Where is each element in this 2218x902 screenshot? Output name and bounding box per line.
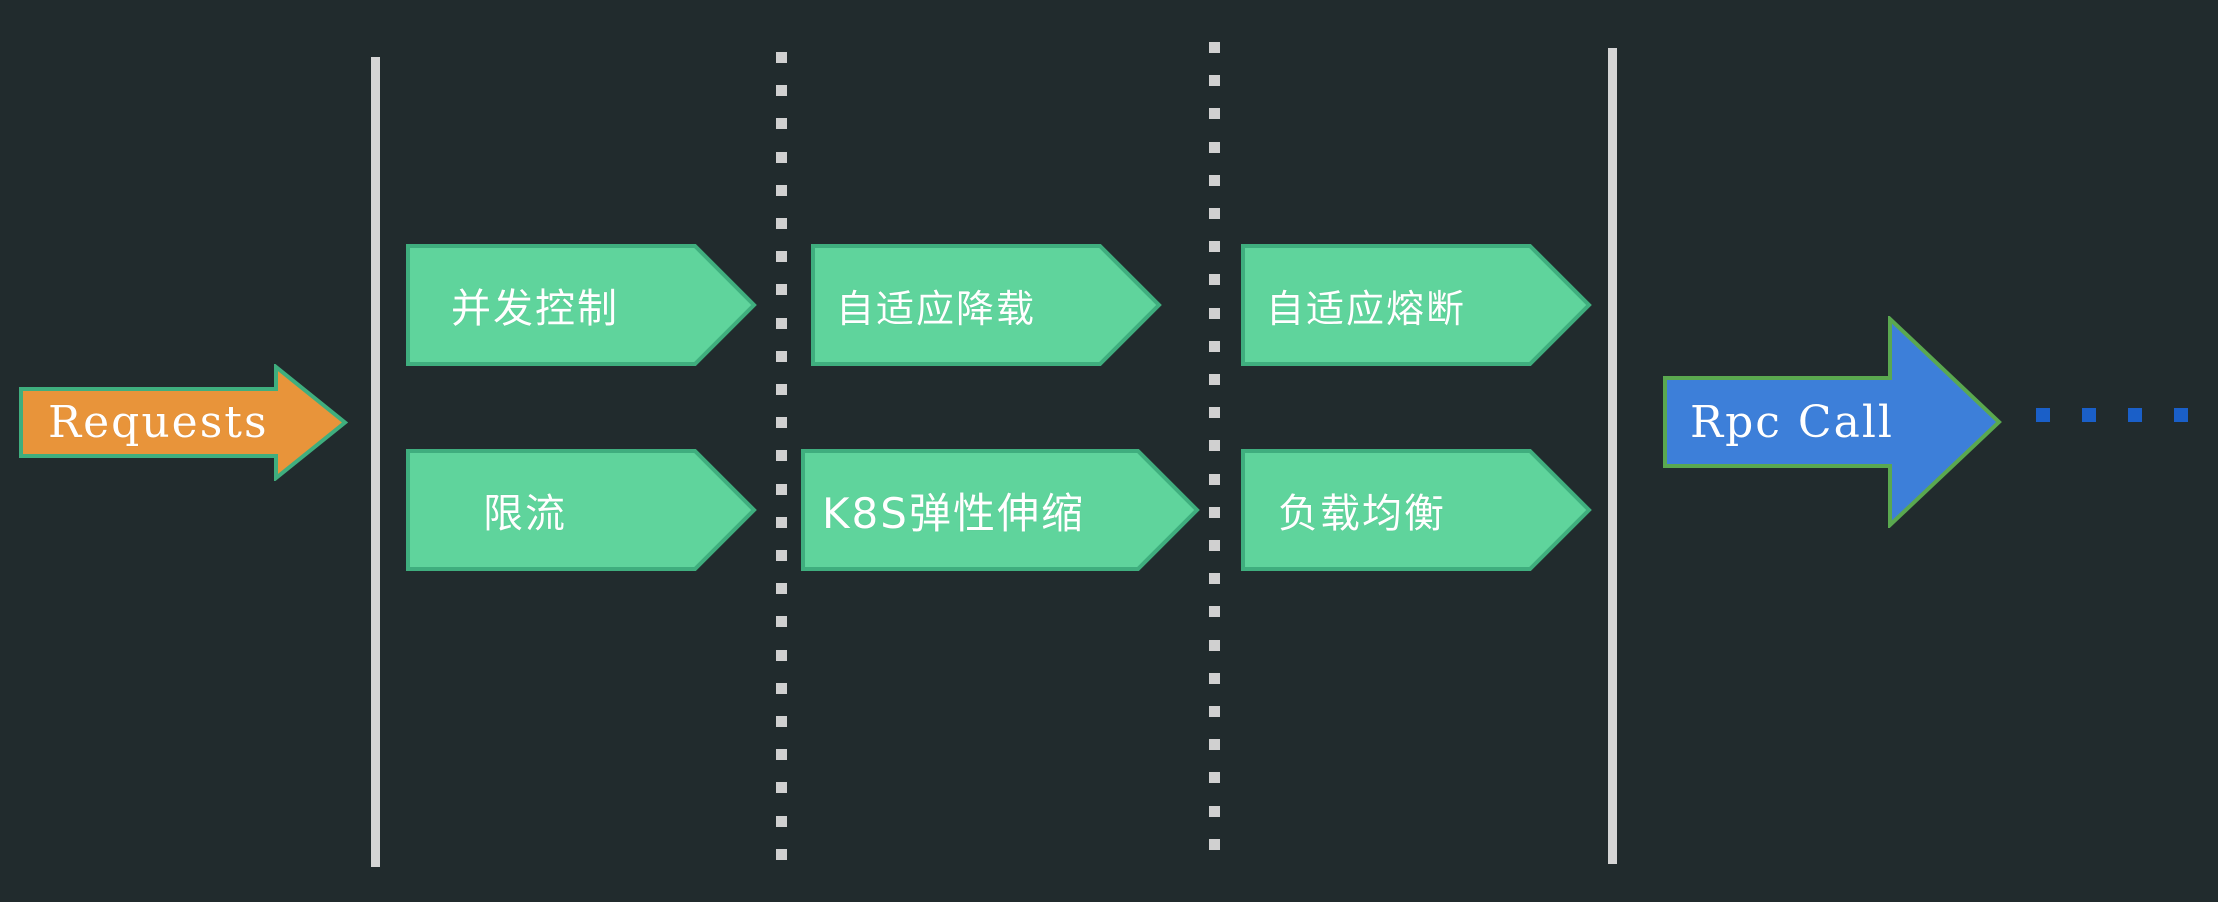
divider-dash-segment — [1209, 341, 1220, 352]
divider-dash-segment — [776, 284, 787, 295]
arrow-stage-2-top[interactable]: 自适应熔断 — [1240, 243, 1592, 367]
divider-dash-segment — [1209, 706, 1220, 717]
arrow-stage-2-top-label: 自适应熔断 — [1240, 278, 1466, 333]
divider-dash-segment — [776, 484, 787, 495]
divider-dash-segment — [776, 650, 787, 661]
continuation-dot — [2128, 408, 2142, 422]
continuation-dot — [2036, 408, 2050, 422]
divider-dash-segment — [1209, 540, 1220, 551]
arrow-rpc-call[interactable]: Rpc Call — [1662, 316, 2002, 528]
divider-dash-segment — [776, 716, 787, 727]
divider-dash-segment — [776, 52, 787, 63]
divider-dash-segment — [1209, 474, 1220, 485]
divider-dash-segment — [776, 550, 787, 561]
continuation-dot — [2082, 408, 2096, 422]
divider-dash-segment — [1209, 374, 1220, 385]
divider-dash-segment — [1209, 42, 1220, 53]
arrow-stage-1-bottom-label-ascii: K8S — [822, 489, 909, 538]
divider-dash-segment — [776, 185, 787, 196]
divider-dash-segment — [776, 351, 787, 362]
divider-dash-segment — [1209, 806, 1220, 817]
divider-dash-segment — [776, 683, 787, 694]
arrow-stage-2-bottom-label: 负载均衡 — [1240, 481, 1446, 539]
arrow-stage-0-bottom[interactable]: 限流 — [405, 448, 757, 572]
divider-dash-segment — [1209, 208, 1220, 219]
divider-dash-segment — [1209, 75, 1220, 86]
divider-dash-segment — [1209, 407, 1220, 418]
divider-dash-segment — [1209, 573, 1220, 584]
divider-dash-segment — [776, 152, 787, 163]
divider-dash-segment — [776, 816, 787, 827]
divider-dash-segment — [776, 218, 787, 229]
arrow-stage-0-top-label: 并发控制 — [405, 276, 619, 334]
divider-dash-segment — [1209, 772, 1220, 783]
divider-dash-segment — [1209, 440, 1220, 451]
arrow-stage-0-bottom-label: 限流 — [405, 481, 567, 539]
divider-dash-segment — [776, 251, 787, 262]
divider-stage-1-dashed — [776, 52, 787, 852]
divider-stage-2-dashed — [1209, 42, 1220, 842]
arrow-stage-2-bottom[interactable]: 负载均衡 — [1240, 448, 1592, 572]
divider-dash-segment — [776, 849, 787, 860]
divider-left-solid — [371, 57, 380, 867]
divider-dash-segment — [1209, 606, 1220, 617]
arrow-stage-1-bottom[interactable]: K8S弹性伸缩 — [800, 448, 1200, 572]
divider-dash-segment — [1209, 274, 1220, 285]
divider-dash-segment — [1209, 175, 1220, 186]
arrow-requests-label: Requests — [18, 397, 269, 448]
divider-dash-segment — [776, 118, 787, 129]
divider-dash-segment — [776, 583, 787, 594]
divider-dash-segment — [1209, 640, 1220, 651]
divider-dash-segment — [1209, 673, 1220, 684]
divider-dash-segment — [776, 517, 787, 528]
diagram-canvas: Requests 并发控制 限流 自适应降载 K8S弹性伸缩 — [0, 0, 2218, 902]
divider-dash-segment — [1209, 241, 1220, 252]
arrow-requests[interactable]: Requests — [18, 364, 348, 481]
arrow-stage-1-bottom-label-cjk: 弹性伸缩 — [909, 489, 1085, 538]
arrow-stage-0-top[interactable]: 并发控制 — [405, 243, 757, 367]
divider-dash-segment — [1209, 142, 1220, 153]
divider-dash-segment — [1209, 839, 1220, 850]
divider-dash-segment — [776, 450, 787, 461]
arrow-stage-1-top-label: 自适应降载 — [810, 278, 1036, 333]
divider-dash-segment — [776, 417, 787, 428]
arrow-rpc-call-label: Rpc Call — [1662, 397, 1894, 448]
divider-dash-segment — [776, 384, 787, 395]
divider-dash-segment — [776, 616, 787, 627]
divider-dash-segment — [776, 318, 787, 329]
arrow-stage-1-bottom-label: K8S弹性伸缩 — [800, 480, 1085, 541]
divider-dash-segment — [1209, 108, 1220, 119]
divider-dash-segment — [776, 782, 787, 793]
divider-dash-segment — [1209, 507, 1220, 518]
divider-dash-segment — [776, 749, 787, 760]
continuation-dots — [2036, 408, 2188, 422]
arrow-stage-1-top[interactable]: 自适应降载 — [810, 243, 1162, 367]
divider-dash-segment — [1209, 739, 1220, 750]
continuation-dot — [2174, 408, 2188, 422]
divider-dash-segment — [776, 85, 787, 96]
divider-dash-segment — [1209, 308, 1220, 319]
divider-right-solid — [1608, 48, 1617, 864]
